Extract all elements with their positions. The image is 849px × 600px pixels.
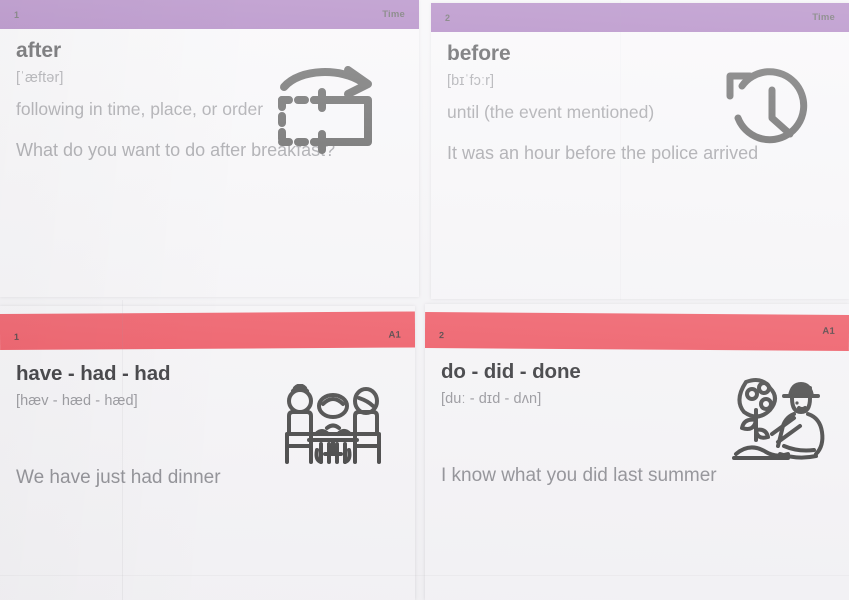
card-number: 1 [14, 332, 19, 342]
card-body-do: do - did - done [duː - dɪd - dʌn] I know… [425, 350, 849, 600]
example-sentence: It was an hour before the police arrived [447, 143, 833, 164]
flashcard-do-did-done[interactable]: 2 A1 do - did - done [duː - dɪd - dʌn] I… [425, 304, 849, 600]
card-category-tag: Time [812, 12, 835, 23]
card-level-tag: A1 [822, 325, 835, 336]
card-header-have: 1 A1 [0, 311, 415, 350]
headword: after [16, 39, 403, 63]
flashcard-have-had-had[interactable]: 1 A1 have - had - had [hæv - hæd - hæd] … [0, 306, 415, 600]
card-body-after: after [ˈæftər] following in time, place,… [0, 29, 419, 297]
card-header-do: 2 A1 [425, 312, 849, 351]
definition-text: following in time, place, or order [16, 99, 266, 120]
phonetic-transcription: [bɪˈfɔːr] [447, 73, 833, 89]
flashcard-sheet: 1 Time after [ˈæftər] following in time,… [0, 0, 849, 600]
phonetic-transcription: [hæv - hæd - hæd] [16, 393, 399, 409]
card-number: 2 [439, 330, 444, 340]
example-sentence: I know what you did last summer [441, 465, 833, 487]
headword: before [447, 42, 833, 66]
flashcard-before[interactable]: 2 Time before [bɪˈfɔːr] until (the event… [431, 3, 849, 299]
card-number: 1 [14, 10, 19, 20]
phonetic-transcription: [duː - dɪd - dʌn] [441, 391, 833, 407]
card-header-before: 2 Time [431, 3, 849, 32]
card-body-before: before [bɪˈfɔːr] until (the event mentio… [431, 32, 849, 299]
definition-text: until (the event mentioned) [447, 102, 697, 123]
card-level-tag: A1 [388, 329, 401, 340]
example-sentence: What do you want to do after breakfast? [16, 140, 403, 161]
flashcard-after[interactable]: 1 Time after [ˈæftər] following in time,… [0, 0, 419, 297]
card-category-tag: Time [382, 9, 405, 20]
card-header-after: 1 Time [0, 0, 419, 29]
headword: have - had - had [16, 362, 399, 386]
card-body-have: have - had - had [hæv - hæd - hæd] We ha… [0, 352, 415, 600]
headword: do - did - done [441, 360, 833, 384]
example-sentence: We have just had dinner [16, 467, 399, 489]
phonetic-transcription: [ˈæftər] [16, 70, 403, 86]
card-number: 2 [445, 13, 450, 23]
